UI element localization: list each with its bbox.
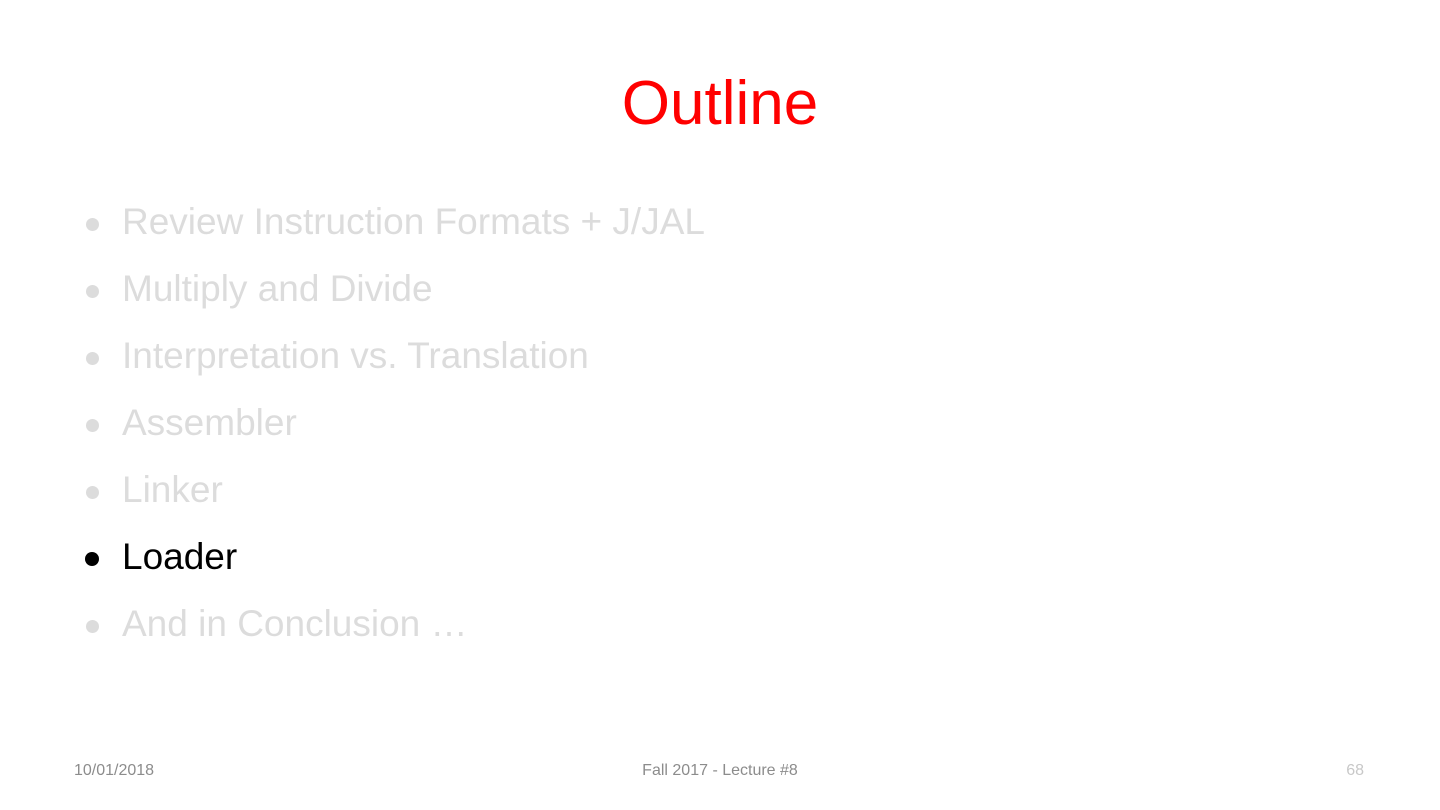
bullet-point-icon	[86, 352, 99, 365]
outline-bullet-list: Review Instruction Formats + J/JAL Multi…	[72, 196, 1368, 665]
list-item-label: Interpretation vs. Translation	[122, 330, 589, 382]
footer-course-label: Fall 2017 - Lecture #8	[0, 760, 1440, 782]
list-item-label: Linker	[122, 464, 223, 516]
list-item-label: And in Conclusion …	[122, 598, 468, 650]
list-item-label: Review Instruction Formats + J/JAL	[122, 196, 705, 248]
bullet-point-icon	[86, 218, 99, 231]
list-item[interactable]: Interpretation vs. Translation	[72, 330, 1368, 397]
list-item[interactable]: Multiply and Divide	[72, 263, 1368, 330]
slide: Outline Review Instruction Formats + J/J…	[0, 0, 1440, 810]
list-item[interactable]: Assembler	[72, 397, 1368, 464]
bullet-point-icon	[86, 419, 99, 432]
list-item-label: Multiply and Divide	[122, 263, 433, 315]
bullet-point-icon	[86, 486, 99, 499]
footer-page-number: 68	[1346, 760, 1364, 782]
list-item-label: Assembler	[122, 397, 297, 449]
bullet-point-icon	[86, 620, 99, 633]
bullet-point-icon	[86, 285, 99, 298]
bullet-point-icon	[85, 552, 99, 566]
list-item-active[interactable]: Loader	[72, 531, 1368, 598]
list-item-label: Loader	[122, 531, 237, 583]
list-item[interactable]: And in Conclusion …	[72, 598, 1368, 665]
page-title: Outline	[0, 66, 1440, 142]
list-item[interactable]: Linker	[72, 464, 1368, 531]
list-item[interactable]: Review Instruction Formats + J/JAL	[72, 196, 1368, 263]
slide-footer: 10/01/2018 Fall 2017 - Lecture #8 68	[0, 760, 1440, 790]
